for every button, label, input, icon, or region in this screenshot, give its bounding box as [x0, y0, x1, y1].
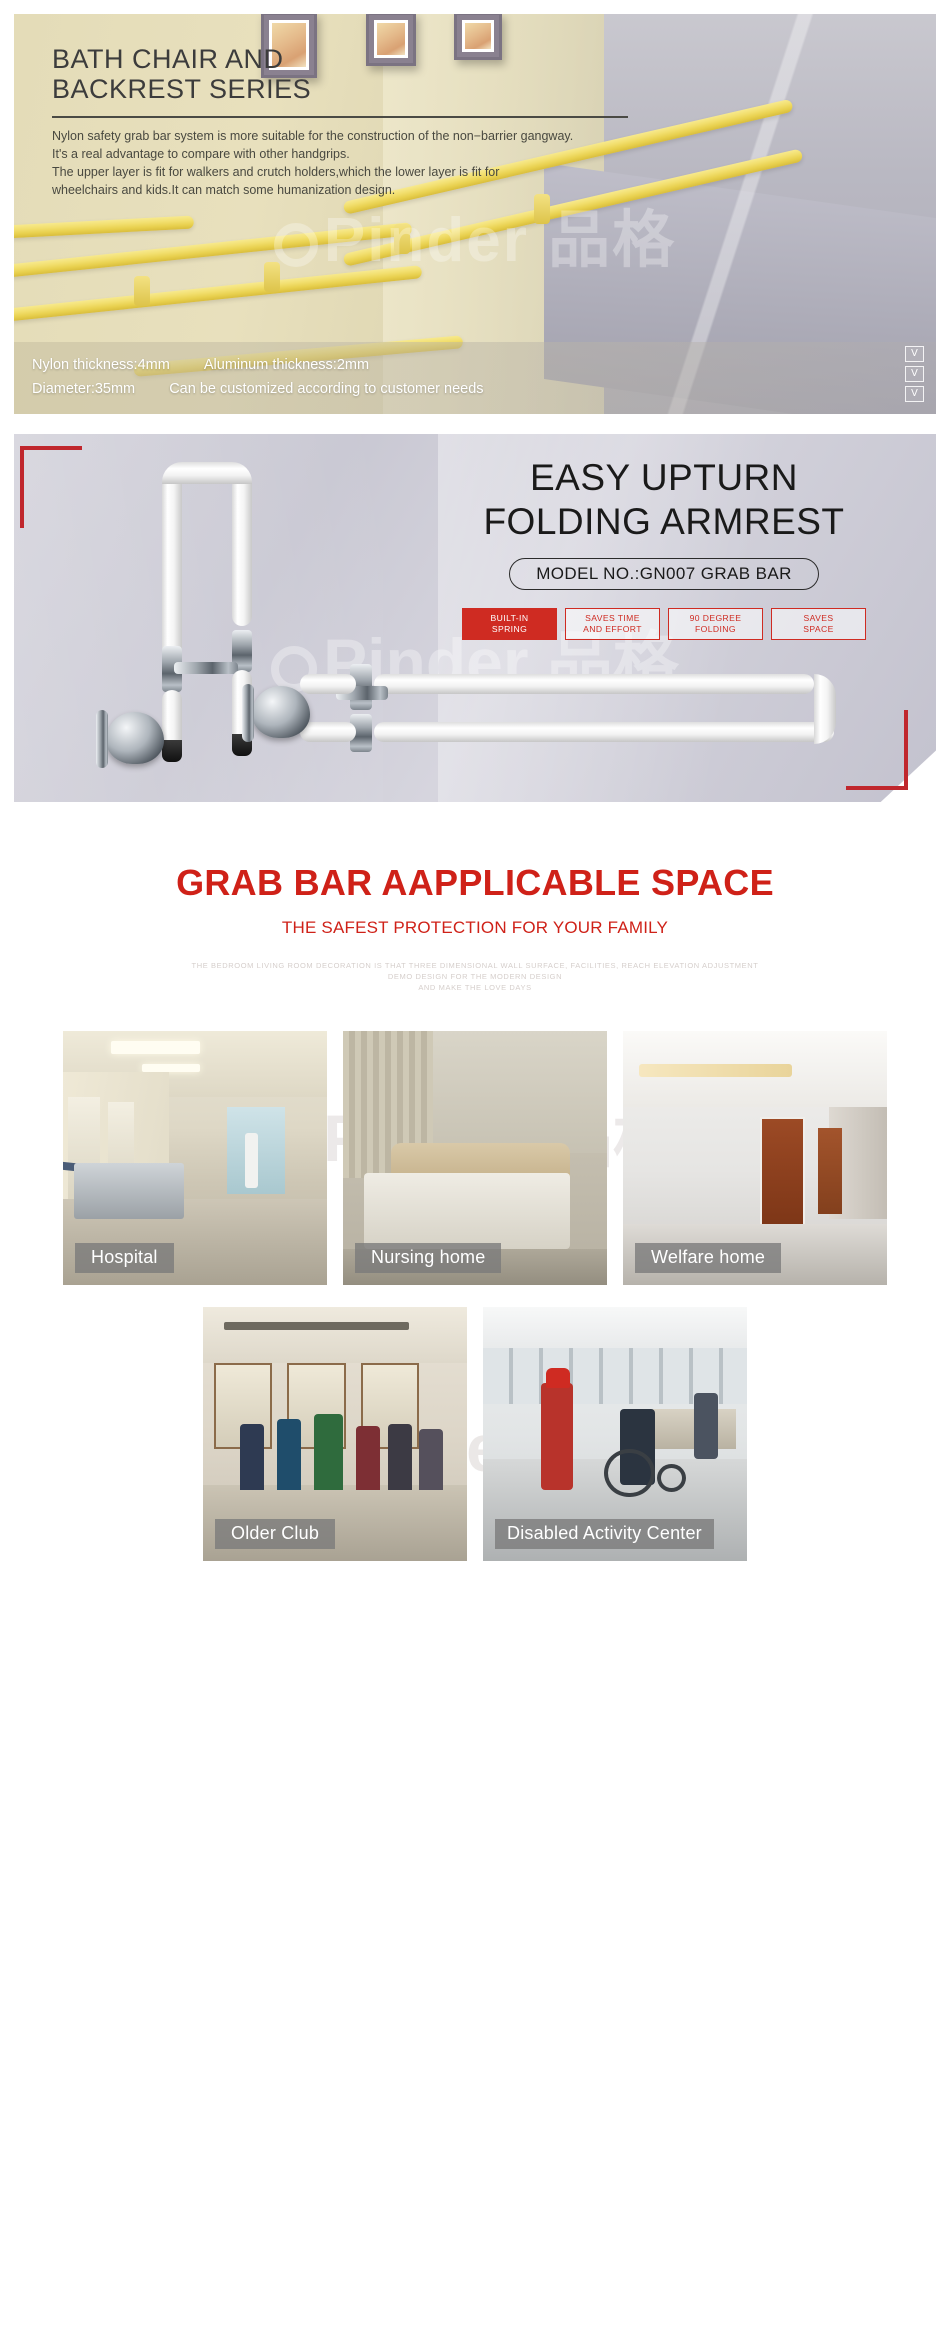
hospital-bed [364, 1173, 570, 1249]
banner2-text-block: EASY UPTURN FOLDING ARMREST MODEL NO.:GN… [404, 456, 924, 640]
ceiling [203, 1307, 467, 1363]
person-figure [694, 1393, 718, 1459]
section-subheading: THE SAFEST PROTECTION FOR YOUR FAMILY [0, 918, 950, 938]
spec-aluminum-thickness: Aluminum thickness:2mm [204, 353, 369, 377]
feature-badge-saves-space: SAVES SPACE [771, 608, 866, 640]
fine-print-line-2: DEMO DESIGN FOR THE MODERN DESIGN [0, 971, 950, 982]
chevron-down-icon[interactable]: V [905, 346, 924, 362]
ceiling-beam [224, 1322, 409, 1330]
wall-mount-flange [106, 712, 164, 764]
spec-nylon-thickness: Nylon thickness:4mm [32, 353, 170, 377]
rail-bracket [134, 276, 150, 306]
armrest-end-cap [162, 740, 182, 762]
spec-text-block: Nylon thickness:4mm Aluminum thickness:2… [32, 353, 484, 401]
card-caption: Nursing home [355, 1243, 501, 1273]
badge-line-1: BUILT-IN [491, 613, 529, 624]
corner-accent-top-left-vertical [20, 446, 24, 528]
banner2-title-line1: EASY UPTURN [404, 456, 924, 500]
section-fine-print: THE BEDROOM LIVING ROOM DECORATION IS TH… [0, 960, 950, 993]
badge-line-2: SPACE [803, 624, 834, 635]
ceiling-lamp [111, 1041, 201, 1054]
bath-chair-banner: Pinder 品格 BATH CHAIR AND BACKREST SERIES… [14, 14, 936, 414]
gallery-card-disabled-activity-center[interactable]: Disabled Activity Center [483, 1307, 747, 1561]
feature-badge-90-degree-folding: 90 DEGREE FOLDING [668, 608, 763, 640]
banner-title: BATH CHAIR AND BACKREST SERIES [52, 44, 652, 104]
rail-bracket [264, 262, 280, 292]
chevron-down-icon[interactable]: V [905, 366, 924, 382]
description-line-2: It's a real advantage to compare with ot… [52, 145, 652, 163]
spec-customization: Can be customized according to customer … [169, 377, 483, 401]
card-caption: Older Club [215, 1519, 335, 1549]
spec-row-1: Nylon thickness:4mm Aluminum thickness:2… [32, 353, 484, 377]
armrest-tube [374, 722, 834, 742]
red-cap-icon [546, 1368, 570, 1388]
title-divider [52, 116, 628, 118]
banner-title-line2: BACKREST SERIES [52, 74, 652, 104]
folding-armrest-banner: Pinder 品格 EASY UPTURN FOLDING ARMREST [14, 434, 936, 802]
person-figure [245, 1133, 258, 1189]
gallery-card-hospital[interactable]: Hospital [63, 1031, 327, 1285]
gallery-row-1: Hospital Nursing home Welfare [0, 1031, 950, 1285]
gallery-card-nursing-home[interactable]: Nursing home [343, 1031, 607, 1285]
banner2-title-line2: FOLDING ARMREST [404, 500, 924, 544]
card-caption: Welfare home [635, 1243, 781, 1273]
badge-line-1: 90 DEGREE [690, 613, 742, 624]
feature-badge-built-in-spring: BUILT-IN SPRING [462, 608, 557, 640]
cove-lighting [639, 1064, 792, 1077]
wheelchair-wheel [604, 1449, 654, 1497]
feature-badge-saves-time: SAVES TIME AND EFFORT [565, 608, 660, 640]
person-figure [419, 1429, 443, 1490]
person-figure-red-cap [541, 1383, 573, 1490]
person-figure [356, 1426, 380, 1490]
description-line-1: Nylon safety grab bar system is more sui… [52, 127, 652, 145]
banner-description: Nylon safety grab bar system is more sui… [52, 127, 652, 199]
person-figure [277, 1419, 301, 1490]
wall-plate [96, 710, 108, 768]
banner-text-block: BATH CHAIR AND BACKREST SERIES Nylon saf… [52, 44, 652, 199]
banner-title-line1: BATH CHAIR AND [52, 44, 652, 74]
fine-print-line-1: THE BEDROOM LIVING ROOM DECORATION IS TH… [0, 960, 950, 971]
corner-accent-top-left-horizontal [20, 446, 82, 450]
chevron-down-icon[interactable]: V [905, 386, 924, 402]
wooden-door [760, 1117, 805, 1229]
armrest-tube [300, 722, 356, 742]
person-figure [314, 1414, 343, 1490]
armrest-bend [162, 462, 252, 484]
rail-bracket [394, 224, 410, 254]
banner2-title: EASY UPTURN FOLDING ARMREST [404, 456, 924, 544]
card-caption: Disabled Activity Center [495, 1519, 714, 1549]
corner-accent-bottom-right-vertical [904, 710, 908, 790]
description-line-3: The upper layer is fit for walkers and c… [52, 163, 652, 181]
wall-mount-flange [252, 686, 310, 738]
gallery-card-welfare-home[interactable]: Welfare home [623, 1031, 887, 1285]
armrest-tube [300, 674, 356, 694]
card-caption: Hospital [75, 1243, 174, 1273]
wooden-door [818, 1128, 842, 1214]
model-number-pill: MODEL NO.:GN007 GRAB BAR [509, 558, 819, 590]
waiting-chairs [74, 1163, 185, 1219]
corner-accent-bottom-right-horizontal [846, 786, 908, 790]
spec-diameter: Diameter:35mm [32, 377, 135, 401]
chevron-group: V V V [905, 346, 924, 402]
armrest-tube [374, 674, 814, 694]
badge-line-1: SAVES TIME [583, 613, 642, 624]
spec-row-2: Diameter:35mm Can be customized accordin… [32, 377, 484, 401]
badge-line-1: SAVES [803, 613, 834, 624]
person-figure [240, 1424, 264, 1490]
section-heading: GRAB BAR AAPPLICABLE SPACE [0, 862, 950, 904]
feature-badge-group: BUILT-IN SPRING SAVES TIME AND EFFORT 90… [404, 608, 924, 640]
gallery-row-2: Older Club Disabled Activity Center [0, 1307, 950, 1561]
person-figure [388, 1424, 412, 1490]
ceiling-lamp [142, 1064, 200, 1072]
badge-line-2: AND EFFORT [583, 624, 642, 635]
wall-plate [242, 684, 254, 742]
badge-line-2: SPRING [491, 624, 529, 635]
chrome-crossbar [174, 662, 238, 674]
armrest-bend [814, 674, 836, 744]
applicable-space-section: GRAB BAR AAPPLICABLE SPACE THE SAFEST PR… [0, 840, 950, 1561]
fine-print-line-3: AND MAKE THE LOVE DAYS [0, 982, 950, 993]
badge-line-2: FOLDING [690, 624, 742, 635]
gallery-card-older-club[interactable]: Older Club [203, 1307, 467, 1561]
ceiling [483, 1307, 747, 1353]
description-line-4: wheelchairs and kids.It can match some h… [52, 181, 652, 199]
armrest-tube [232, 476, 252, 626]
